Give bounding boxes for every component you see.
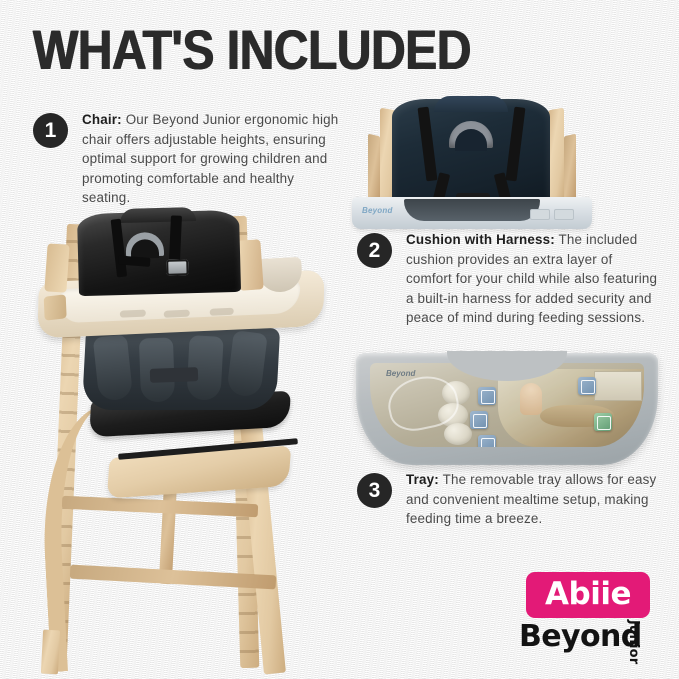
item-2-text: Cushion with Harness: The included cushi… — [406, 230, 659, 328]
chair-tray-dimple-3 — [210, 308, 234, 316]
tray-brand-mark: Beyond — [386, 369, 415, 378]
item-1-heading: Chair: — [82, 112, 122, 127]
list-item-chair: 1 Chair: Our Beyond Junior ergonomic hig… — [33, 113, 343, 208]
cushion-wood-rail-right — [548, 108, 564, 207]
badge-number-2: 2 — [357, 233, 392, 268]
product-photo-cushion: Beyond — [352, 97, 592, 225]
list-item-cushion: 2 Cushion with Harness: The included cus… — [357, 233, 659, 328]
tray-reflection-child — [520, 383, 542, 415]
cushion-tray-tab-1 — [530, 209, 550, 220]
item-3-text: Tray: The removable tray allows for easy… — [406, 470, 657, 529]
chair-tray-clip-left — [44, 294, 67, 320]
brand-logo-badge: Abiie — [526, 572, 650, 618]
cushion-wood-rail-right-outer — [564, 134, 576, 203]
chair-tray-dimple-1 — [120, 310, 146, 318]
chair-armrest-left — [44, 243, 69, 292]
cushion-tray-tab-2 — [554, 209, 574, 220]
list-item-tray: 3 Tray: The removable tray allows for ea… — [357, 473, 657, 529]
chair-harness-buckle — [166, 259, 188, 276]
item-2-heading: Cushion with Harness: — [406, 232, 555, 247]
brand-logo-junior-text: Junior — [626, 620, 641, 664]
chair-cushion-bracket — [150, 367, 198, 383]
product-photo-tray: Beyond — [356, 353, 658, 465]
cushion-wood-rail-left-outer — [368, 134, 380, 203]
cushion-handle-slot — [449, 121, 493, 148]
cushion-tray-base: Beyond — [352, 197, 592, 229]
cushion-pad — [392, 99, 550, 203]
brand-logo-abiie-text: Abiie — [545, 579, 631, 610]
chair-tray-dimple-2 — [164, 310, 190, 318]
chair-front-leg-foot — [41, 630, 60, 675]
tray-overlay-icon-3 — [478, 435, 496, 447]
item-3-heading: Tray: — [406, 472, 439, 487]
item-3-body: The removable tray allows for easy and c… — [406, 472, 656, 526]
brand-logo: Abiie Beyond Junior — [519, 572, 665, 664]
tray-overlay-icon-2 — [470, 411, 488, 429]
chair-harness-strap-left — [111, 219, 128, 278]
infographic-page: WHAT'S INCLUDED 1 Chair: Our Beyond Juni… — [0, 0, 679, 679]
cushion-tray-brand-mark: Beyond — [362, 206, 393, 215]
cushion-tray-well — [404, 199, 540, 221]
badge-number-1: 1 — [33, 113, 68, 148]
item-1-text: Chair: Our Beyond Junior ergonomic high … — [82, 110, 343, 208]
product-photo-chair — [22, 210, 342, 679]
tray-overlay-icon-4 — [578, 377, 596, 395]
tray-overlay-icon-5 — [594, 413, 612, 431]
tray-reflection-bowl-3 — [444, 423, 472, 445]
badge-number-3: 3 — [357, 473, 392, 508]
chair-back-handle-slot — [125, 232, 164, 257]
tray-body: Beyond — [356, 353, 658, 465]
tray-reflection-scene — [498, 369, 644, 447]
chair-back-cushion — [77, 210, 241, 296]
tray-overlay-icon-1 — [478, 387, 496, 405]
page-title: WHAT'S INCLUDED — [33, 22, 471, 78]
brand-logo-beyond-text: Beyond — [519, 622, 642, 652]
tray-reflection-window — [594, 371, 642, 401]
